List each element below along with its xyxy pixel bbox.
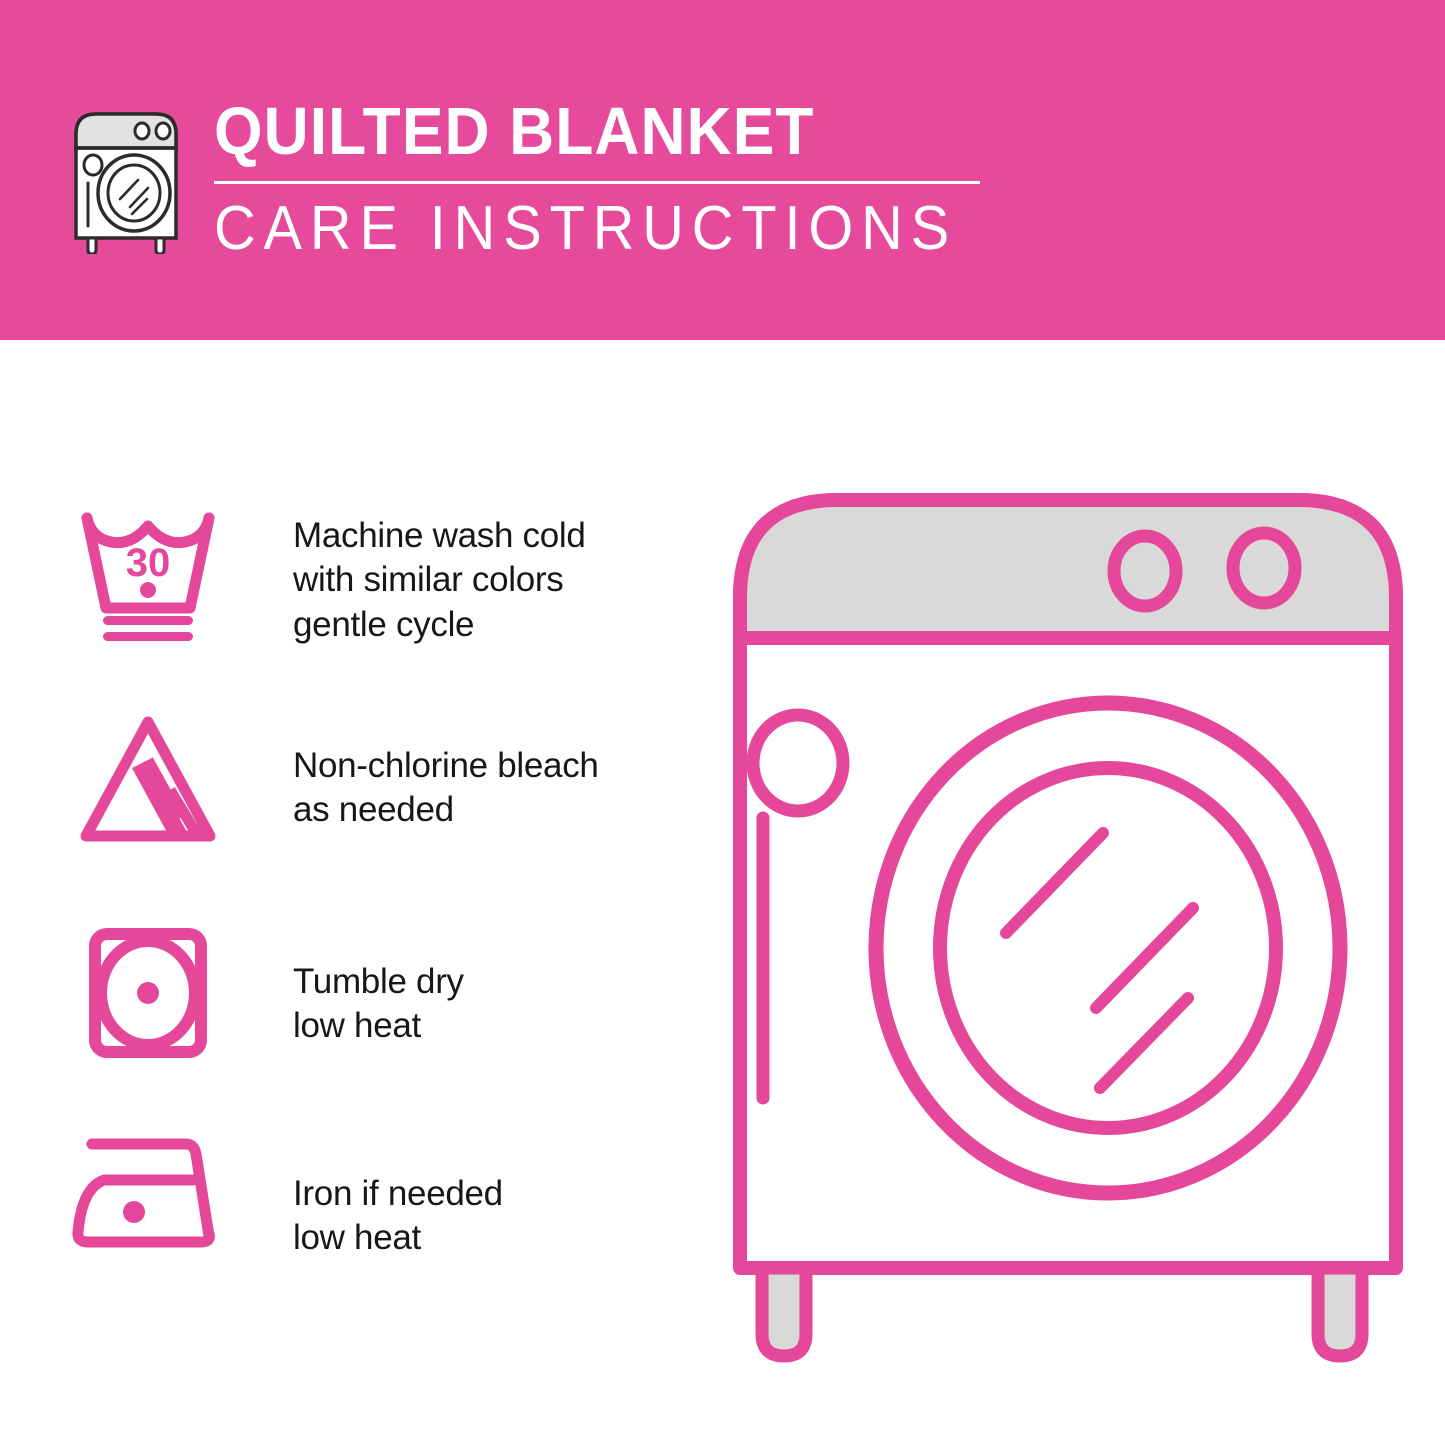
header-banner: QUILTED BLANKET CARE INSTRUCTIONS <box>0 0 1445 340</box>
wash-temp-value: 30 <box>126 541 171 585</box>
care-item-label: Iron if needed low heat <box>293 1120 503 1261</box>
care-item-tumble-dry: Tumble dry low heat <box>68 910 688 1120</box>
page-subtitle: CARE INSTRUCTIONS <box>214 198 957 260</box>
care-instruction-list: 30 Machine wash cold with similar colors… <box>68 490 688 1330</box>
care-item-iron: Iron if needed low heat <box>68 1120 688 1330</box>
front-load-washing-machine-illustration <box>718 478 1418 1378</box>
washer-knob-left <box>1114 536 1176 606</box>
care-item-bleach: Non-chlorine bleach as needed <box>68 700 688 910</box>
tumble-dry-low-icon <box>68 910 228 1068</box>
washer-knob-right <box>1233 533 1295 603</box>
washer-leg-left <box>762 1268 806 1356</box>
care-item-label: Tumble dry low heat <box>293 910 464 1049</box>
washing-machine-icon <box>62 104 190 254</box>
machine-wash-30-gentle-icon: 30 <box>68 490 228 648</box>
care-item-label: Machine wash cold with similar colors ge… <box>293 490 586 647</box>
header-content: QUILTED BLANKET CARE INSTRUCTIONS <box>62 98 1013 260</box>
washer-leg-right <box>1318 1268 1362 1356</box>
washer-button <box>753 715 843 811</box>
header-text-block: QUILTED BLANKET CARE INSTRUCTIONS <box>214 98 1013 260</box>
title-divider <box>214 181 980 184</box>
page-title: QUILTED BLANKET <box>214 98 957 165</box>
iron-low-heat-icon <box>68 1120 228 1258</box>
care-item-label: Non-chlorine bleach as needed <box>293 700 599 833</box>
non-chlorine-bleach-icon <box>68 700 228 858</box>
care-item-machine-wash: 30 Machine wash cold with similar colors… <box>68 490 688 700</box>
